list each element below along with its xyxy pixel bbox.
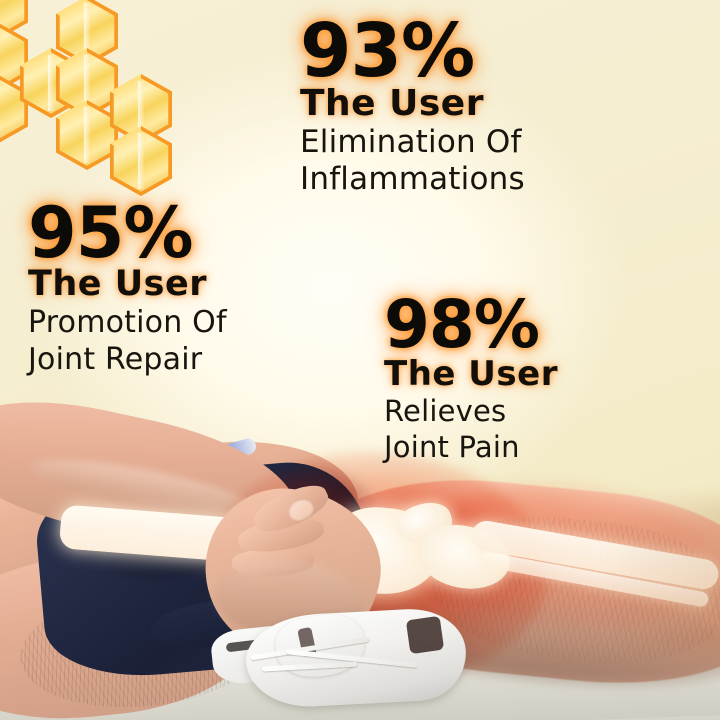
stat-subject: The User (28, 267, 227, 303)
stat-subject: The User (384, 357, 558, 392)
stat-description-2: Joint Repair (28, 343, 227, 377)
sneaker-heel-panel (406, 616, 444, 654)
stat-description-1: Elimination Of (300, 125, 525, 160)
stat-percent: 98% (384, 292, 558, 358)
stat-percent: 95% (28, 198, 227, 268)
stat-description-1: Promotion Of (28, 306, 227, 340)
infographic-canvas: 93% The User Elimination Of Inflammation… (0, 0, 720, 720)
stat-description-2: Joint Pain (384, 431, 558, 464)
stat-block-95: 95% The User Promotion Of Joint Repair (28, 198, 227, 377)
stat-subject: The User (300, 86, 525, 123)
stat-percent: 93% (300, 14, 525, 88)
honeycomb-cell (56, 100, 118, 170)
honeycomb-cluster (0, 0, 196, 180)
stat-description-2: Inflammations (300, 162, 525, 197)
stat-block-98: 98% The User Relieves Joint Pain (384, 292, 558, 464)
bone-fade-overlay (600, 500, 720, 650)
stat-description-1: Relieves (384, 395, 558, 428)
stat-block-93: 93% The User Elimination Of Inflammation… (300, 14, 525, 197)
